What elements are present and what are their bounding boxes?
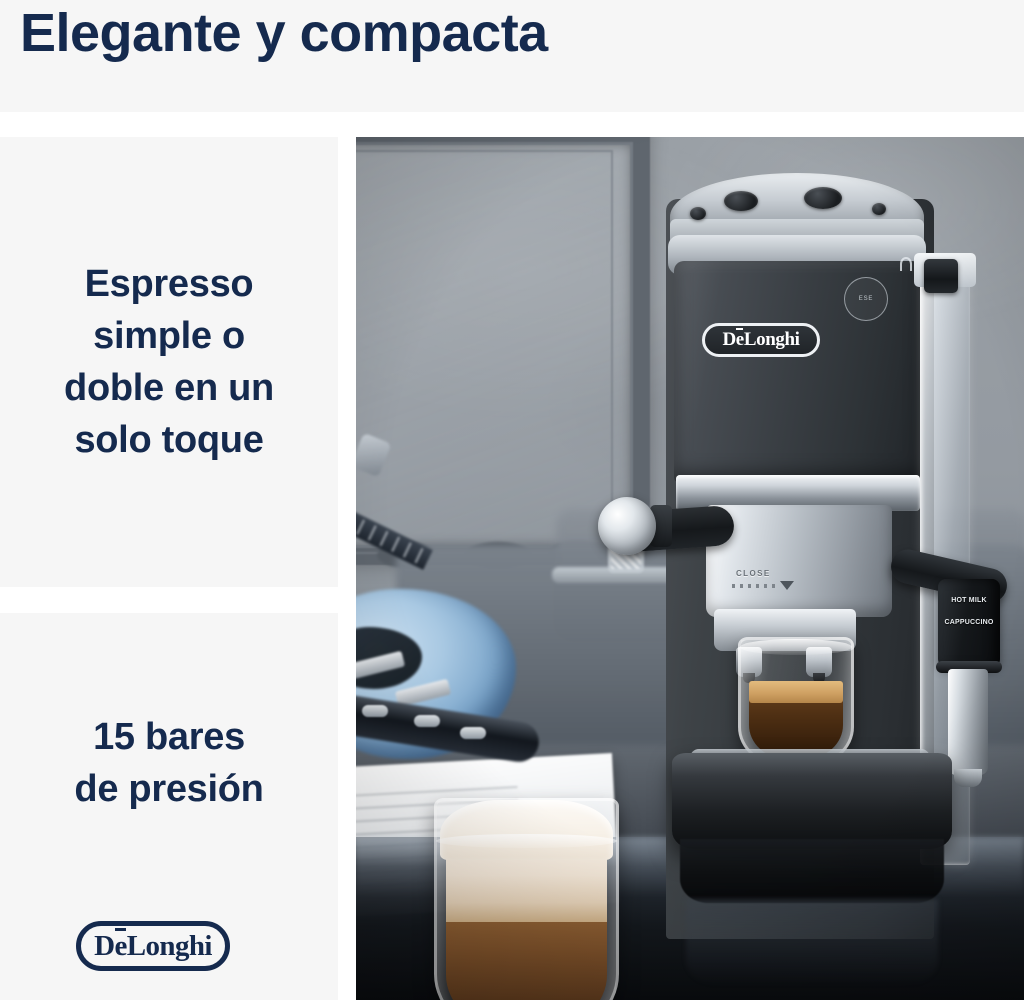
- logo-macron-e: e: [115, 930, 127, 962]
- power-button[interactable]: [872, 203, 886, 215]
- feature-line: simple o: [0, 310, 338, 362]
- badge-prefix: D: [722, 329, 735, 350]
- milk-frother-tube: [948, 669, 988, 775]
- cappuccino-rim: [436, 834, 617, 848]
- product-feature-page: Elegante y compacta Espresso simple o do…: [0, 0, 1024, 1000]
- feature-line: Espresso: [0, 258, 338, 310]
- product-photo: DeLonghi ESE CLOSE: [356, 137, 1024, 1000]
- close-pointer-icon: [780, 581, 794, 590]
- espresso-rim: [740, 639, 852, 655]
- delonghi-logo-text: DeLonghi: [94, 932, 212, 961]
- cappuccino-coffee-layer: [446, 916, 607, 1000]
- machine-delonghi-badge: DeLonghi: [702, 323, 820, 357]
- feature-line: 15 bares: [0, 711, 338, 763]
- feature-line: solo toque: [0, 414, 338, 466]
- ese-seal-icon: ESE: [844, 277, 888, 321]
- espresso-crema: [749, 681, 843, 703]
- milk-frother-tip: [954, 769, 982, 787]
- picture-frame: [356, 137, 650, 565]
- drip-tray[interactable]: [672, 753, 952, 849]
- espresso-machine: DeLonghi ESE CLOSE: [628, 157, 1024, 1000]
- delonghi-logo: DeLonghi: [76, 921, 230, 971]
- picture-frame-inner-line: [356, 150, 613, 554]
- cappuccino-glass: [434, 798, 619, 1000]
- feature-line: de presión: [0, 763, 338, 815]
- hot-milk-label: HOT MILK: [938, 597, 1000, 604]
- cappuccino-foam-layer: [440, 800, 613, 860]
- logo-prefix: D: [94, 930, 114, 962]
- logo-suffix: Longhi: [127, 930, 212, 962]
- espresso-glass: [738, 637, 854, 767]
- cappuccino-label: CAPPUCCINO: [938, 619, 1000, 626]
- steam-button[interactable]: [690, 207, 706, 220]
- water-tank-knob[interactable]: [924, 259, 958, 293]
- badge-macron-e: e: [736, 329, 744, 350]
- group-head: [706, 505, 892, 617]
- badge-suffix: Longhi: [744, 329, 800, 350]
- machine-badge-text: DeLonghi: [722, 329, 799, 351]
- tank-hook: [900, 257, 912, 271]
- feature-text-pressure: 15 bares de presión: [0, 711, 338, 815]
- machine-base-reflection: [686, 899, 938, 985]
- one-cup-button[interactable]: [724, 191, 758, 211]
- close-label: CLOSE: [736, 569, 771, 578]
- clarinet-key: [362, 705, 388, 717]
- steam-control-knob[interactable]: [598, 497, 656, 555]
- close-scale-dots: [732, 584, 776, 588]
- clarinet-key: [414, 715, 440, 727]
- milk-frother-collar[interactable]: HOT MILK CAPPUCCINO: [938, 579, 1000, 667]
- two-cup-button[interactable]: [804, 187, 842, 209]
- feature-text-one-touch: Espresso simple o doble en un solo toque: [0, 258, 338, 466]
- clarinet-key: [460, 727, 486, 739]
- machine-base: [680, 839, 944, 903]
- feature-line: doble en un: [0, 362, 338, 414]
- headline-band: Elegante y compacta: [0, 0, 1024, 112]
- page-title: Elegante y compacta: [20, 2, 548, 64]
